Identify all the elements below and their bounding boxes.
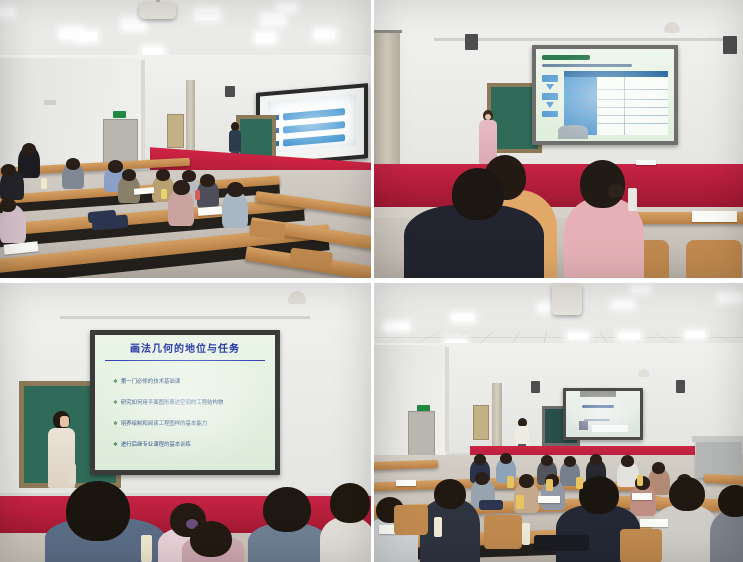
student-head	[263, 487, 311, 532]
student	[320, 517, 371, 562]
ceiling-light	[385, 323, 409, 330]
curtain-rod	[374, 30, 402, 33]
student-head	[579, 476, 619, 514]
chair	[484, 515, 522, 549]
projection-screen: 画法几何的地位与任务 ❖第一门必修的技术基础课 ❖研究如何用平面图形表达空间的工…	[90, 330, 280, 475]
ceiling-light	[619, 333, 640, 339]
ceiling-light	[315, 30, 335, 39]
student-head	[227, 182, 244, 197]
student-head	[434, 479, 466, 509]
student-head	[590, 454, 602, 465]
bottle-on-desk	[141, 535, 152, 562]
ceiling-light	[196, 9, 219, 20]
ceiling-light	[256, 33, 275, 42]
window-curtain	[374, 30, 400, 170]
bag-on-desk	[534, 535, 589, 551]
student-head	[190, 521, 232, 557]
screen-glare	[566, 391, 640, 437]
ceiling-light	[0, 8, 14, 16]
bottle-on-desk	[434, 517, 442, 537]
screen-glare	[268, 94, 356, 153]
cup-on-desk	[195, 190, 200, 200]
wall-speaker-left	[465, 34, 478, 50]
window-curtain	[186, 80, 195, 158]
student-head	[475, 472, 489, 485]
back-door	[408, 411, 435, 458]
paper-on-desk	[640, 519, 668, 527]
student-head	[541, 455, 553, 466]
ceiling-light	[685, 332, 705, 338]
paper-on-desk	[632, 493, 652, 500]
cup-on-desk	[516, 495, 524, 509]
ceiling-light	[278, 3, 296, 11]
paper-on-desk	[692, 211, 737, 222]
photo-panel-top-left	[0, 0, 371, 278]
student-head	[452, 168, 504, 220]
ceiling-dome-speaker	[638, 369, 649, 377]
wall-corner-pipe	[445, 347, 449, 452]
student-head	[200, 174, 215, 187]
ceiling-light	[632, 286, 650, 292]
presenter-face	[60, 416, 69, 427]
lectern-top	[692, 436, 743, 442]
student-head	[718, 485, 743, 517]
student-head	[1, 164, 16, 177]
student-head	[330, 483, 370, 523]
screen-surface	[566, 391, 640, 437]
projection-screen	[563, 388, 643, 440]
wall-vent	[44, 100, 56, 105]
photo-panel-bottom-right	[374, 283, 743, 562]
student-head	[156, 169, 170, 181]
chair	[394, 505, 428, 535]
student-head	[108, 160, 123, 173]
student-head	[66, 481, 130, 541]
paper-on-desk	[198, 206, 222, 216]
wall-rail	[60, 316, 310, 319]
slide-bottom-right	[566, 391, 640, 437]
student-head	[474, 454, 486, 465]
ceiling-light	[77, 32, 97, 41]
ceiling-projector	[139, 2, 176, 19]
screen-surface	[536, 49, 674, 141]
student-head	[66, 158, 80, 170]
student-head	[669, 477, 705, 511]
ceiling-light	[262, 14, 284, 24]
paper-on-desk	[538, 496, 560, 503]
student-head	[173, 180, 190, 195]
ceiling-light	[719, 294, 741, 301]
ceiling-light	[452, 314, 474, 321]
wall-cabinet	[473, 405, 489, 440]
ceiling-light	[123, 19, 145, 29]
cup-on-desk	[41, 178, 47, 189]
presenter-shirt	[515, 426, 529, 445]
bottle-on-desk	[628, 188, 637, 211]
student-head	[22, 143, 36, 156]
screen-glare	[536, 49, 674, 141]
projection-screen	[532, 45, 678, 145]
wall-speaker-right	[676, 380, 685, 393]
photo-panel-bottom-left: 画法几何的地位与任务 ❖第一门必修的技术基础课 ❖研究如何用平面图形表达空间的工…	[0, 283, 371, 562]
student-head	[652, 462, 665, 474]
chair	[686, 240, 742, 278]
student-head	[122, 169, 136, 181]
ceiling-light	[568, 333, 588, 339]
student-foreground	[710, 511, 743, 562]
cup-on-desk	[546, 479, 553, 491]
chair	[620, 529, 662, 562]
stage-skirt	[374, 164, 743, 209]
student-head	[519, 474, 534, 488]
student-hair-bun	[608, 184, 624, 198]
slide-top-left	[268, 94, 356, 153]
screen-surface: 画法几何的地位与任务 ❖第一门必修的技术基础课 ❖研究如何用平面图形表达空间的工…	[95, 335, 275, 470]
paper-on-stage	[636, 160, 656, 165]
exit-sign	[113, 111, 126, 118]
presenter-body	[229, 130, 241, 152]
ceiling-dome-speaker	[288, 291, 306, 304]
window-curtain	[492, 383, 502, 451]
bag-on-desk	[479, 500, 503, 510]
wall-corner-pipe	[141, 60, 145, 160]
paper-on-desk	[396, 480, 416, 486]
ceiling-dome-speaker	[664, 22, 680, 33]
student-head	[500, 453, 512, 464]
presenter-arm	[68, 463, 76, 485]
wall-speaker	[225, 86, 235, 97]
student-head	[0, 198, 16, 212]
photo-panel-top-right	[374, 0, 743, 278]
slide-top-right	[536, 49, 674, 141]
cup-on-desk	[576, 477, 583, 489]
wall-speaker-left	[531, 381, 540, 393]
screen-glare	[95, 335, 275, 470]
cup-on-desk	[637, 475, 643, 486]
lectern	[696, 438, 742, 478]
cup-on-desk	[507, 476, 514, 488]
photo-collage: 画法几何的地位与任务 ❖第一门必修的技术基础课 ❖研究如何用平面图形表达空间的工…	[0, 0, 743, 562]
wall-speaker-right	[723, 36, 737, 54]
student-head	[564, 456, 576, 467]
slide-bottom-left: 画法几何的地位与任务 ❖第一门必修的技术基础课 ❖研究如何用平面图形表达空间的工…	[95, 335, 275, 470]
student-head	[621, 455, 634, 467]
bottle-on-desk	[522, 523, 530, 545]
ceiling-light	[613, 301, 633, 308]
cup-on-desk	[161, 189, 167, 199]
ceiling-projector	[552, 283, 582, 315]
wall-cabinet	[167, 114, 184, 148]
